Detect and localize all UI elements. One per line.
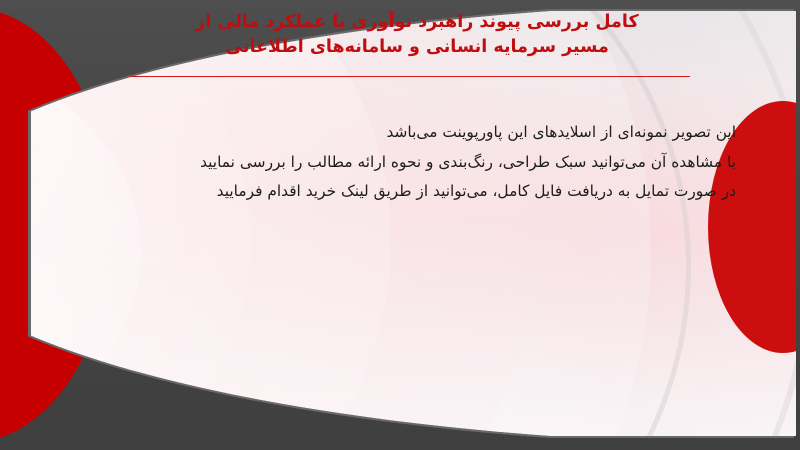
content-panel xyxy=(31,11,796,436)
body-line-2: با مشاهده آن می‌توانید سبک طراحی، رنگ‌بن… xyxy=(120,148,736,178)
body-line-1: این تصویر نمونه‌ای از اسلایدهای این پاور… xyxy=(120,118,736,148)
body-line-3: در صورت تمایل به دریافت فایل کامل، می‌تو… xyxy=(120,177,736,207)
slide-body-text: این تصویر نمونه‌ای از اسلایدهای این پاور… xyxy=(120,118,736,207)
presentation-slide: کامل بررسی پیوند راهبرد نوآوری با عملکرد… xyxy=(0,0,800,450)
slide-title: کامل بررسی پیوند راهبرد نوآوری با عملکرد… xyxy=(100,10,734,61)
slide-title-line-1: کامل بررسی پیوند راهبرد نوآوری با عملکرد… xyxy=(100,10,734,35)
title-divider-rule xyxy=(130,76,690,77)
panel-gloss-overlay xyxy=(31,11,796,436)
slide-title-line-2: مسیر سرمایه انسانی و سامانه‌های اطلاعاتی xyxy=(100,35,734,60)
